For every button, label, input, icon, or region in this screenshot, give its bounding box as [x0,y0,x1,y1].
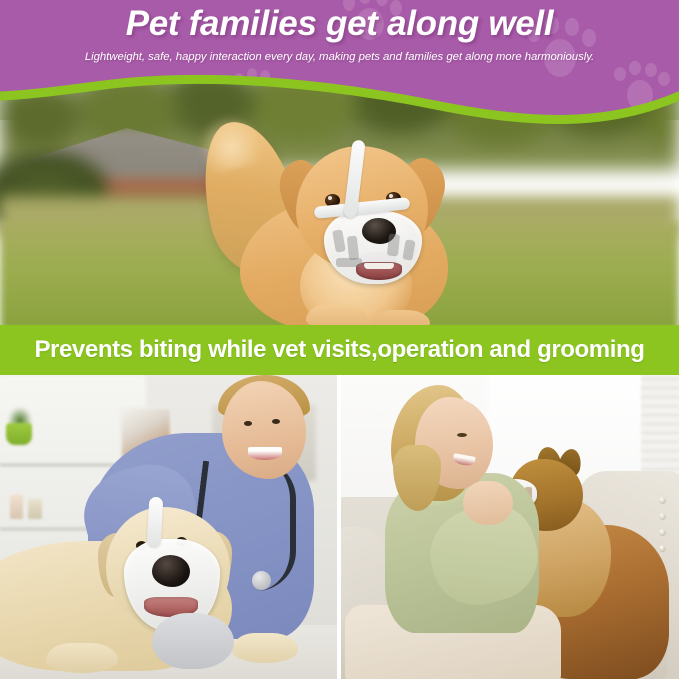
muzzle-vent-slot [387,233,400,256]
vet-eye-left [244,421,252,426]
feature-banner: Prevents biting while vet visits,operati… [0,325,679,375]
plant-pot [6,423,32,445]
shelf-bottle [10,495,23,519]
clinic-dog-paw [46,643,118,673]
clinic-dog-paw [232,633,298,663]
sofa-stud [659,497,666,504]
gallery-photo-vet-clinic [0,375,337,679]
stethoscope-chestpiece [252,571,271,590]
page-title: Pet families get along well [0,3,679,45]
muzzle-front-opening [356,262,402,280]
woman-eye [457,433,467,437]
page-subtitle: Lightweight, safe, happy interaction eve… [0,51,679,63]
dog-paw-right [372,310,430,325]
muzzle-vent-slot [336,258,362,267]
product-infographic: Pet families get along well Lightweight,… [0,0,679,679]
vet-smile [248,447,282,460]
sofa-stud [659,545,666,552]
woman-hand [463,481,513,525]
clinic-dog-nose [152,555,190,587]
dog-paw-left [306,304,368,325]
gallery-photo-living-room [341,375,679,679]
golden-retriever-dog [196,118,496,325]
hero-section: Pet families get along well Lightweight,… [0,0,679,325]
sofa-stud [659,513,666,520]
sofa-stud [659,529,666,536]
gallery-section [0,375,679,679]
vet-eye-right [272,419,280,424]
feature-banner-text: Prevents biting while vet visits,operati… [34,336,644,364]
shelf-bottle [28,499,42,519]
vet-gloved-hand [152,613,234,669]
clinic-muzzle-top-strap [147,497,164,548]
